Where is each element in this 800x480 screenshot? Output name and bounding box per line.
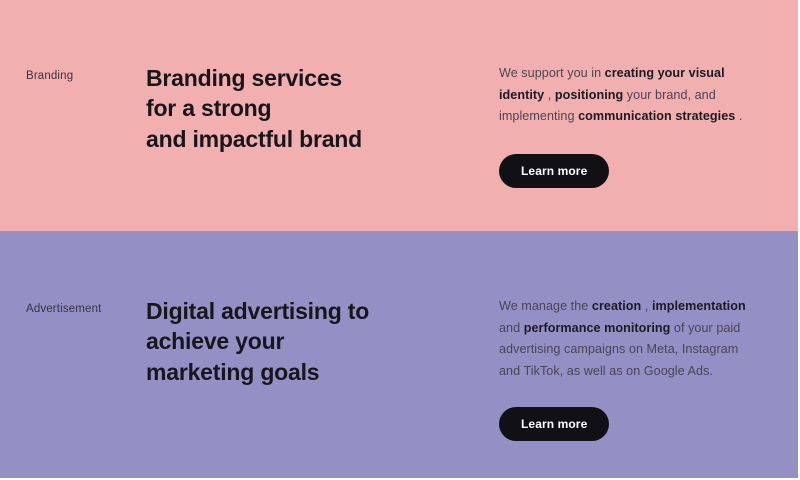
advertisement-right-column: We manage the creation , implementation … (499, 296, 747, 441)
body-text-emphasis: implementation (652, 299, 746, 313)
section-headline-advertisement: Digital advertising to achieve your mark… (146, 296, 369, 387)
section-eyebrow-advertisement: Advertisement (26, 303, 101, 315)
learn-more-button-advertisement[interactable]: Learn more (499, 407, 609, 441)
section-eyebrow-branding: Branding (26, 70, 73, 82)
section-advertisement: Advertisement Digital advertising to ach… (0, 231, 798, 478)
body-text-part: and (499, 321, 524, 335)
services-page: Branding Branding services for a strong … (0, 0, 800, 480)
body-text-emphasis: communication strategies (578, 109, 735, 123)
body-text-emphasis: positioning (555, 88, 623, 102)
branding-right-column: We support you in creating your visual i… (499, 63, 747, 188)
section-branding: Branding Branding services for a strong … (0, 0, 798, 231)
section-headline-branding: Branding services for a strong and impac… (146, 63, 362, 154)
body-text-part: We manage the (499, 299, 592, 313)
section-body-branding: We support you in creating your visual i… (499, 63, 747, 128)
body-text-part: , (641, 299, 652, 313)
body-text-part: , (544, 88, 555, 102)
learn-more-button-branding[interactable]: Learn more (499, 154, 609, 188)
body-text-part: . (735, 109, 742, 123)
body-text-emphasis: performance monitoring (524, 321, 671, 335)
body-text-emphasis: creation (592, 299, 641, 313)
body-text-part: We support you in (499, 66, 605, 80)
section-body-advertisement: We manage the creation , implementation … (499, 296, 747, 383)
